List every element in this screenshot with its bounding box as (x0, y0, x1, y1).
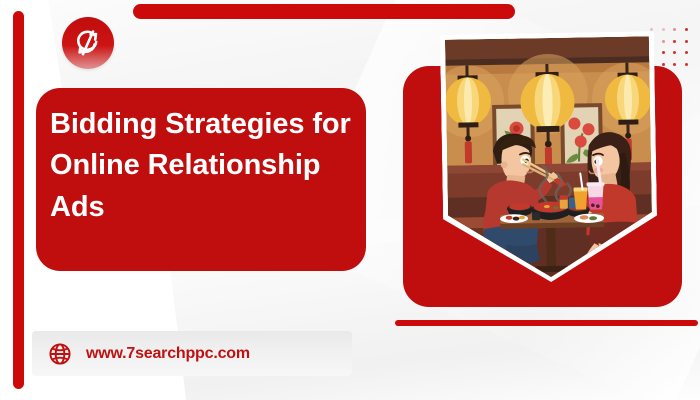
grid-dot (662, 40, 665, 43)
website-url-text: www.7searchppc.com (86, 345, 250, 363)
grid-dot (650, 28, 653, 31)
grid-dot (662, 63, 665, 66)
grid-dot (673, 51, 676, 54)
globe-icon (48, 342, 72, 366)
decor-left-vertical-bar (13, 11, 24, 389)
grid-dot (662, 51, 665, 54)
grid-dot (685, 51, 688, 54)
page-title: Bidding Strategies for Online Relationsh… (50, 104, 355, 228)
decor-bottom-horizontal-line (395, 320, 698, 326)
grid-dot (662, 28, 665, 31)
grid-dot (685, 28, 688, 31)
grid-dot (685, 63, 688, 66)
brand-logo[interactable] (62, 17, 114, 69)
grid-dot (673, 40, 676, 43)
website-url-bar[interactable]: www.7searchppc.com (32, 331, 352, 376)
grid-dot (673, 28, 676, 31)
circular-arrow-logo-icon (71, 26, 105, 60)
decor-top-horizontal-bar (133, 4, 515, 19)
banner-root: Bidding Strategies for Online Relationsh… (0, 0, 700, 400)
grid-dot (685, 40, 688, 43)
grid-dot (673, 63, 676, 66)
